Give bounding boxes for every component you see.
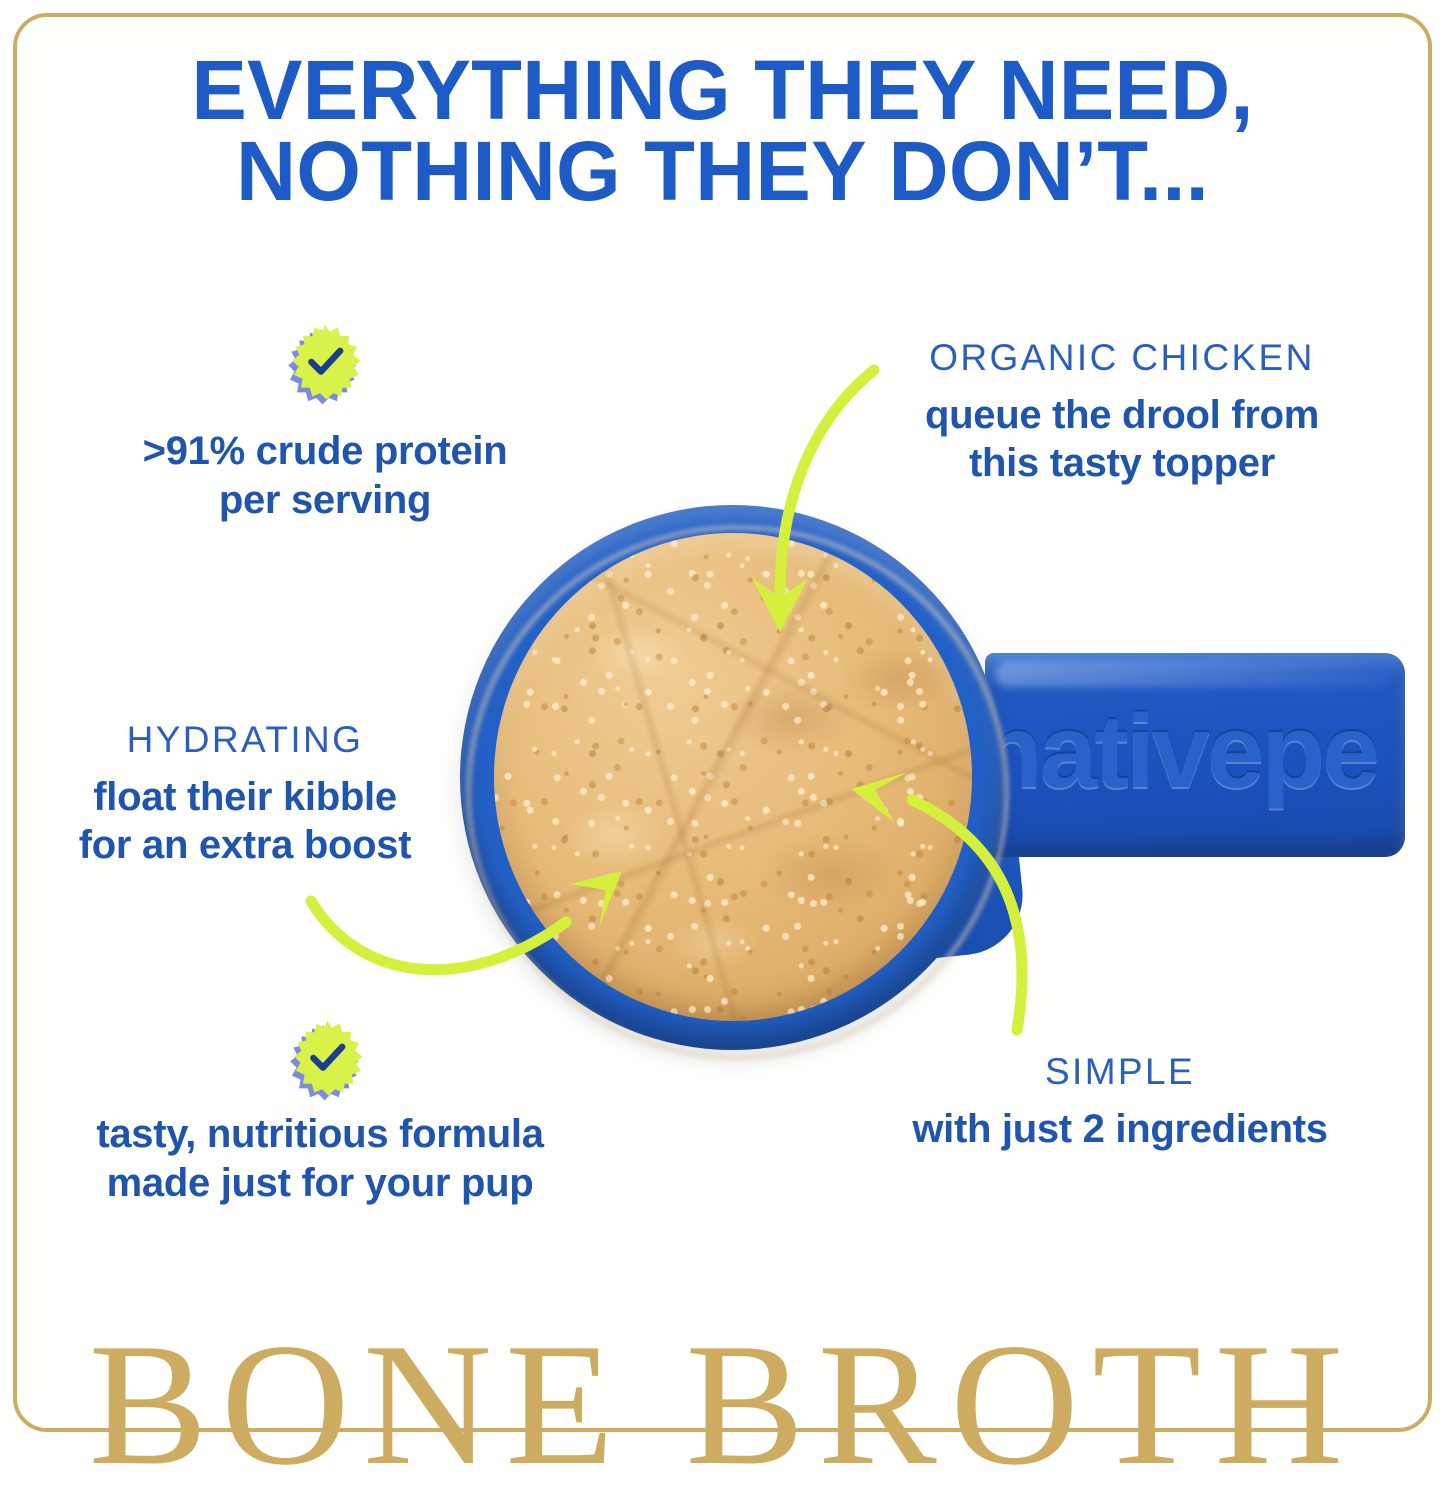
scoop-handle: nativepe xyxy=(985,653,1405,857)
feature-organic-chicken: ORGANIC CHICKEN queue the drool from thi… xyxy=(862,338,1382,488)
scoop-bowl xyxy=(460,505,1005,1050)
measuring-scoop-icon: nativepe xyxy=(440,485,1445,1065)
feature-crude-protein-body: >91% crude protein per serving xyxy=(115,427,535,525)
scoop-handle-brand-text: nativepe xyxy=(979,693,1445,813)
feature-hydrating: HYDRATING float their kibble for an extr… xyxy=(45,720,445,870)
feature-simple-label: SIMPLE xyxy=(895,1052,1345,1093)
feature-hydrating-body: float their kibble for an extra boost xyxy=(45,773,445,871)
check-badge-icon-crude-protein xyxy=(285,322,365,402)
feature-organic-chicken-body: queue the drool from this tasty topper xyxy=(862,391,1382,489)
feature-simple: SIMPLE with just 2 ingredients xyxy=(895,1052,1345,1153)
feature-organic-chicken-label: ORGANIC CHICKEN xyxy=(862,338,1382,379)
product-wordmark-text: BONE BROTH xyxy=(88,1322,1356,1487)
check-badge-icon-tasty-formula xyxy=(287,1018,367,1098)
page-title: EVERYTHING THEY NEED, NOTHING THEY DON’T… xyxy=(0,50,1445,211)
product-wordmark: BONE BROTH xyxy=(0,1322,1445,1487)
feature-tasty-formula-body: tasty, nutritious formula made just for … xyxy=(85,1110,555,1208)
feature-tasty-formula: tasty, nutritious formula made just for … xyxy=(85,1098,555,1208)
headline-line-2: NOTHING THEY DON’T... xyxy=(7,131,1438,212)
feature-hydrating-label: HYDRATING xyxy=(45,720,445,761)
headline-line-1: EVERYTHING THEY NEED, xyxy=(7,50,1438,131)
scoop-rim-shading xyxy=(460,505,1005,1050)
feature-simple-body: with just 2 ingredients xyxy=(895,1105,1345,1154)
handle-gloss xyxy=(995,661,1395,687)
feature-crude-protein: >91% crude protein per serving xyxy=(115,415,535,525)
